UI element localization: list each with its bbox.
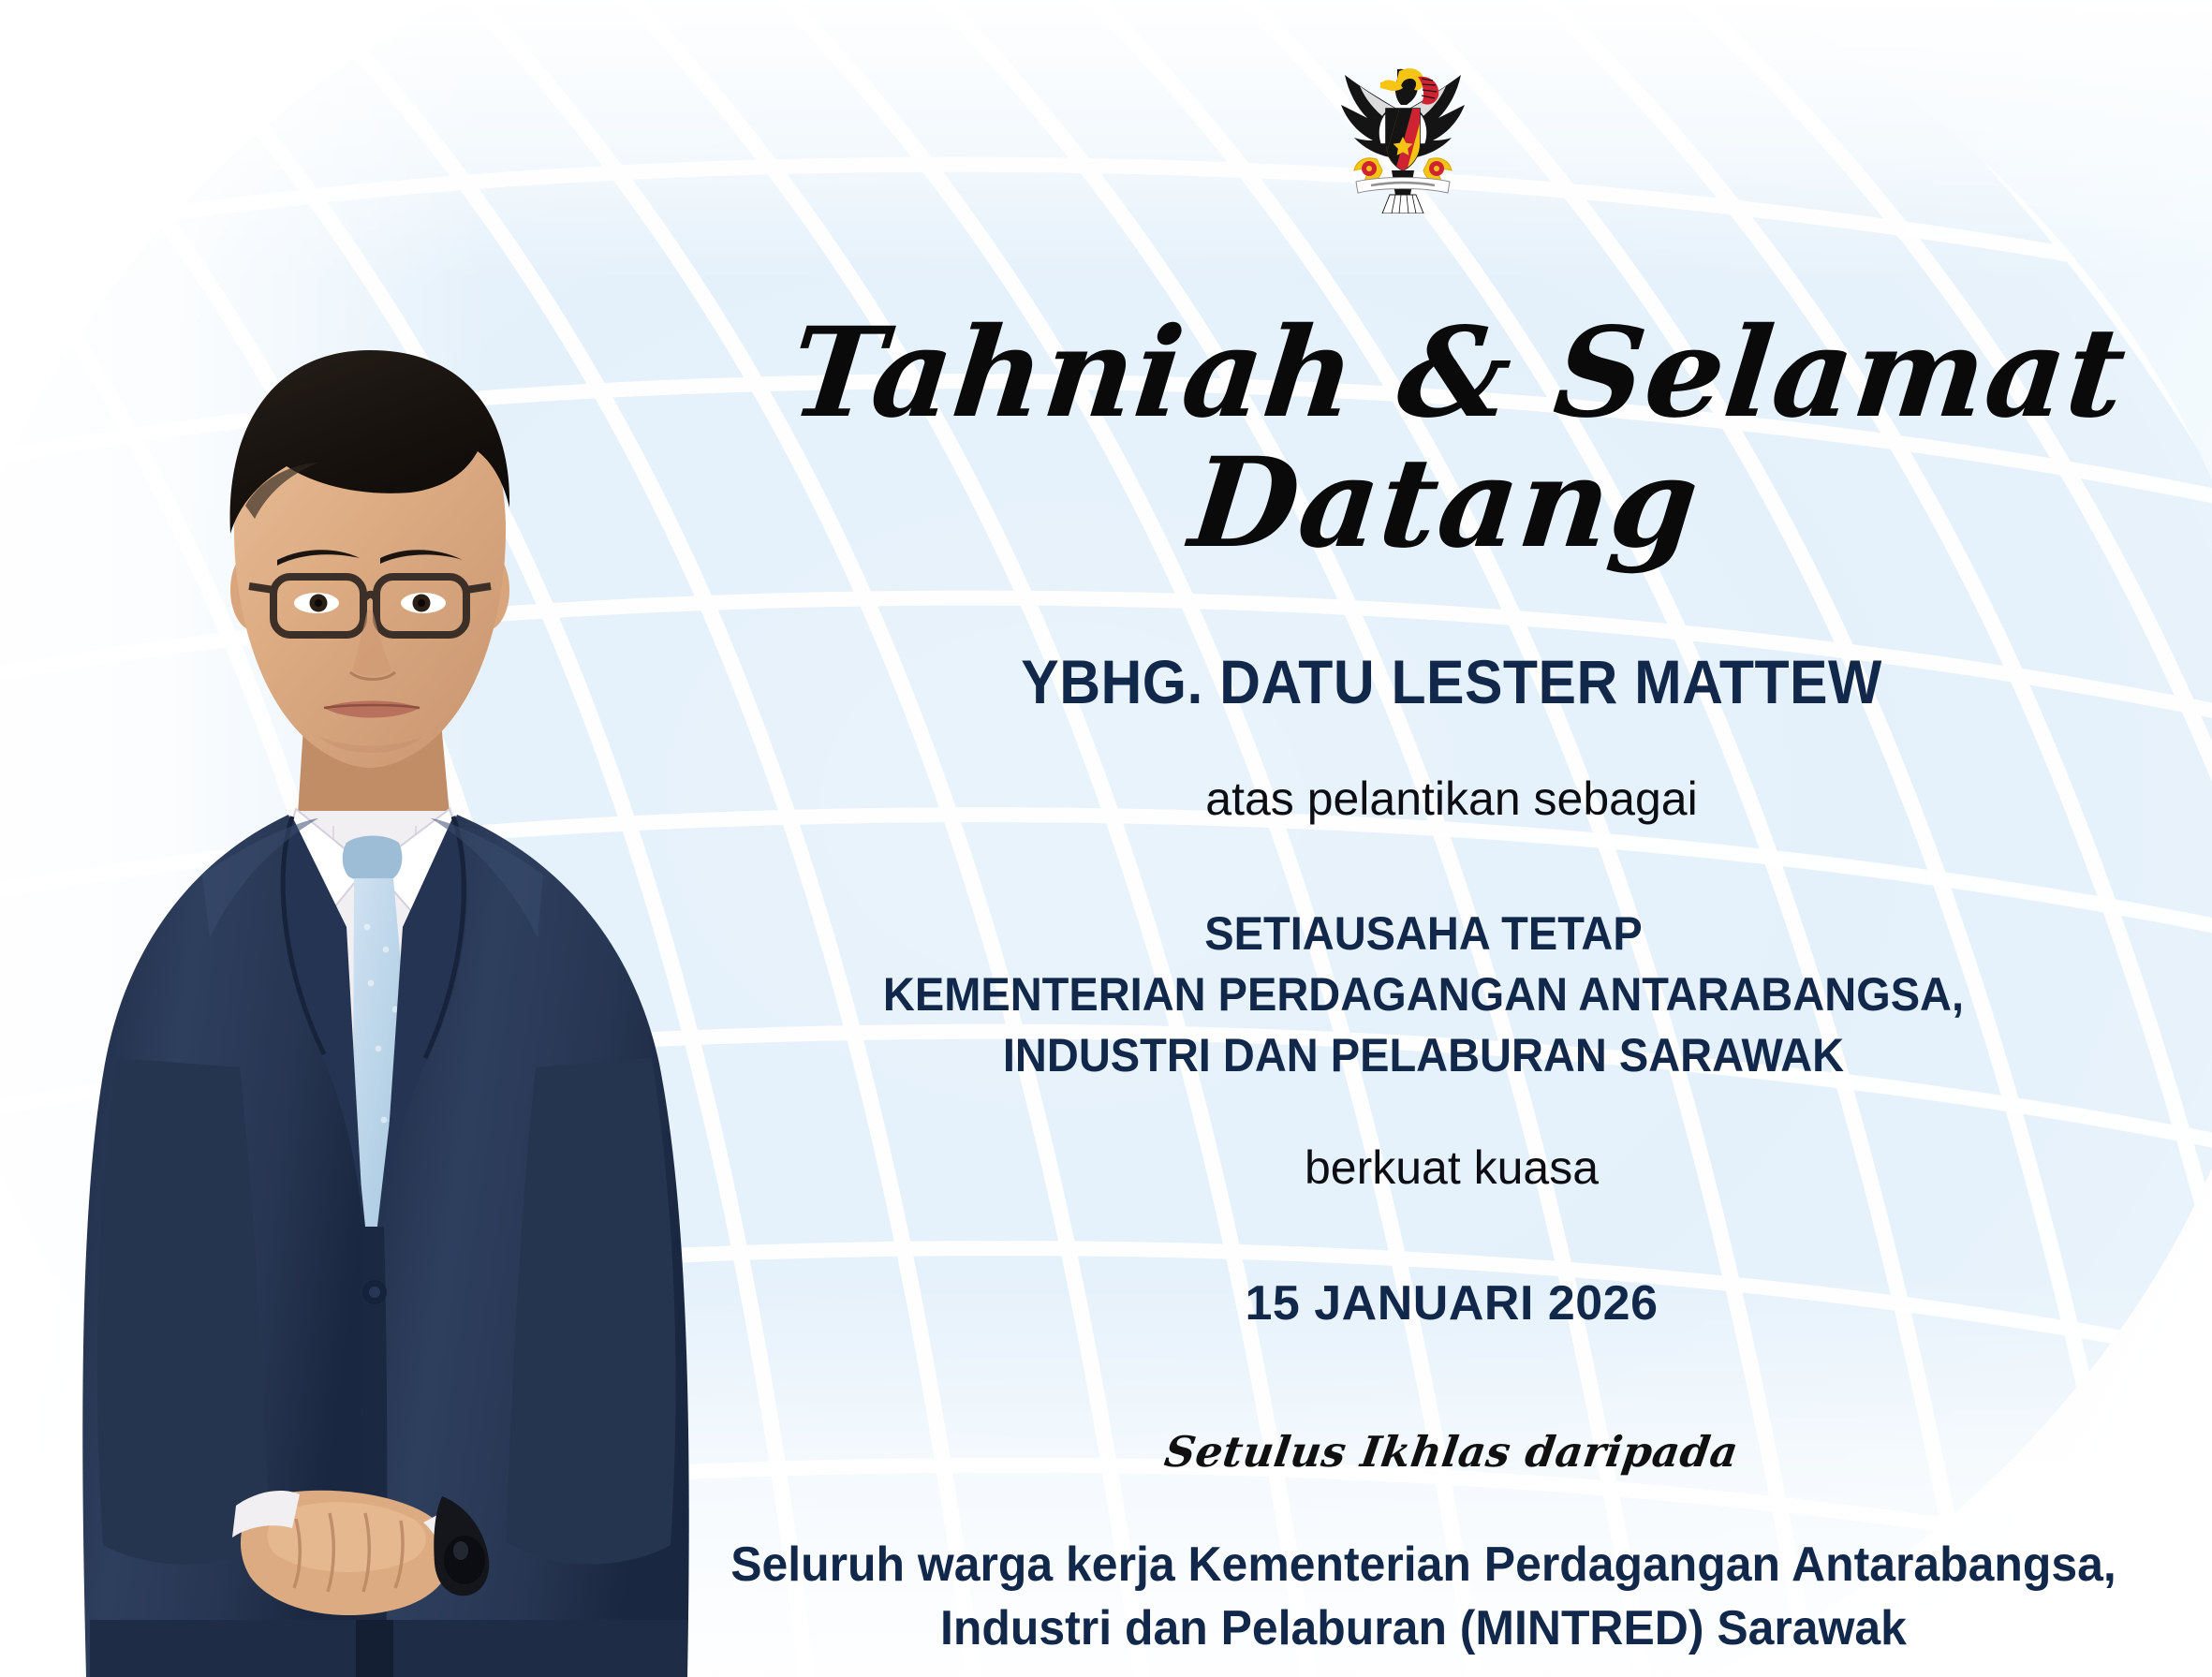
position-line-2: KEMENTERIAN PERDAGANGAN ANTARABANGSA, <box>701 964 2146 1025</box>
honoree-name: YBHG. DATU LESTER MATTEW <box>771 646 2132 717</box>
position-line-1: SETIAUSAHA TETAP <box>701 904 2146 964</box>
position-block: SETIAUSAHA TETAP KEMENTERIAN PERDAGANGAN… <box>701 904 2146 1086</box>
effective-label: berkuat kuasa <box>712 1140 2191 1195</box>
sender-block: Seluruh warga kerja Kementerian Perdagan… <box>686 1534 2160 1660</box>
appointment-intro: atas pelantikan sebagai <box>712 772 2191 826</box>
sarawak-crest-icon <box>1328 54 1478 213</box>
effective-date: 15 JANUARI 2026 <box>712 1275 2191 1331</box>
regards-script: Setulus Ikhlas daripada <box>708 1427 2194 1477</box>
sarawak-crest-svg <box>1328 54 1478 213</box>
sender-line-1: Seluruh warga kerja Kementerian Perdagan… <box>686 1534 2160 1597</box>
honoree-portrait <box>37 309 815 1677</box>
honoree-portrait-svg <box>37 309 815 1677</box>
position-line-3: INDUSTRI DAN PELABURAN SARAWAK <box>701 1025 2146 1086</box>
sender-line-2: Industri dan Pelaburan (MINTRED) Sarawak <box>686 1597 2160 1661</box>
greeting-poster: Tahniah & Selamat Datang YBHG. DATU LEST… <box>0 0 2212 1677</box>
headline-script: Tahniah & Selamat Datang <box>698 309 2205 568</box>
